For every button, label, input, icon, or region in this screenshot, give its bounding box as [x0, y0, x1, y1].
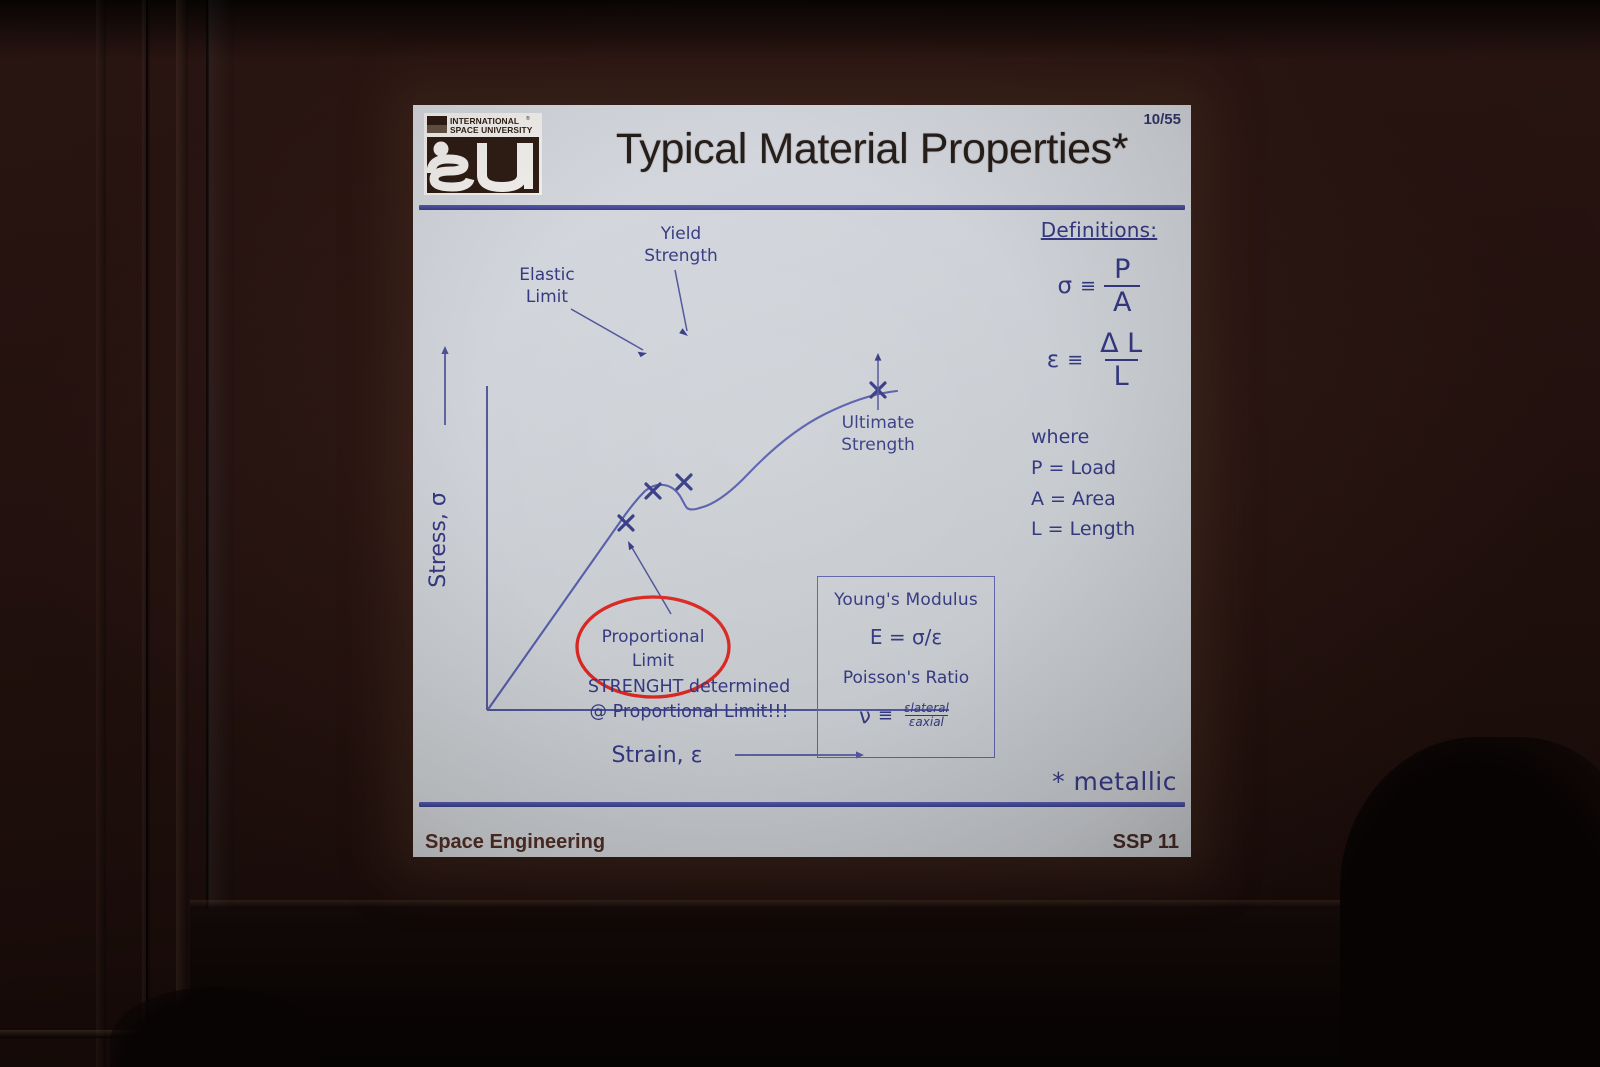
lecture-room-photo: INTERNATIONAL ® SPACE UNIVERSITY 10/55 T…: [0, 0, 1600, 1067]
strength-note-line-1: STRENGHT determined: [569, 675, 809, 700]
yield-strength-annotation: Yield Strength: [644, 224, 718, 336]
y-axis-label: Stress, σ: [426, 492, 451, 588]
wall-panel-seam: [146, 0, 148, 1067]
youngs-modulus-equation: E = σ/ε: [818, 625, 994, 649]
poisson-equiv-sign: ≡: [878, 705, 893, 726]
youngs-modulus-title: Young's Modulus: [818, 590, 994, 610]
svg-text:SPACE UNIVERSITY: SPACE UNIVERSITY: [450, 125, 533, 135]
marker-yield-strength: [677, 475, 691, 489]
wall-pilaster: [176, 0, 188, 1067]
poisson-numerator: εlateral: [900, 702, 953, 715]
strain-equiv-sign: ≡: [1067, 349, 1083, 371]
slide-header: INTERNATIONAL ® SPACE UNIVERSITY 10/55 T…: [413, 105, 1191, 203]
audience-silhouette: [1340, 737, 1600, 1067]
x-axis-label: Strain, ε: [611, 743, 702, 768]
svg-text:Elastic: Elastic: [519, 265, 574, 285]
strength-note-line-2: @ Proportional Limit!!!: [569, 700, 809, 725]
footer-divider: [419, 802, 1185, 807]
strain-symbol: ε: [1047, 347, 1059, 373]
poisson-symbol: ν: [859, 704, 871, 728]
strain-denominator: L: [1105, 359, 1138, 390]
stress-numerator: P: [1105, 256, 1139, 285]
stress-denominator: A: [1104, 285, 1140, 316]
elastic-limit-annotation: Elastic Limit: [519, 265, 647, 357]
svg-text:Yield: Yield: [660, 224, 701, 244]
svg-text:Limit: Limit: [526, 287, 568, 307]
stress-symbol: σ: [1058, 273, 1073, 299]
where-item-length: L = Length: [1031, 514, 1185, 545]
svg-text:Limit: Limit: [632, 651, 674, 671]
wall-panel-seam: [142, 0, 150, 1067]
strain-fraction: Δ L L: [1091, 330, 1151, 390]
strain-numerator: Δ L: [1091, 330, 1151, 359]
ceiling-shadow: [0, 0, 1600, 60]
where-item-area: A = Area: [1031, 484, 1185, 515]
poissons-ratio-title: Poisson's Ratio: [818, 668, 994, 688]
slide-body: Stress, σ: [413, 210, 1191, 802]
projected-slide: INTERNATIONAL ® SPACE UNIVERSITY 10/55 T…: [413, 105, 1191, 857]
footer-program-code: SSP 11: [1113, 831, 1179, 854]
footer-course-name: Space Engineering: [425, 831, 605, 854]
where-item-load: P = Load: [1031, 453, 1185, 484]
poisson-fraction: εlateral εaxial: [900, 702, 953, 730]
slide-footer: Space Engineering SSP 11: [413, 813, 1191, 857]
where-label: where: [1031, 422, 1185, 453]
definitions-panel: Definitions: σ ≡ P A ε ≡ Δ L L: [1013, 218, 1185, 545]
stress-fraction: P A: [1104, 256, 1140, 316]
wall-panel-seam: [96, 0, 106, 1067]
poissons-ratio-equation: ν ≡ εlateral εaxial: [818, 702, 994, 730]
svg-text:Ultimate: Ultimate: [842, 413, 915, 433]
strain-definition-equation: ε ≡ Δ L L: [1013, 330, 1185, 390]
ultimate-strength-annotation: Ultimate Strength: [841, 353, 915, 455]
where-block: where P = Load A = Area L = Length: [1013, 422, 1185, 545]
proportional-limit-annotation: Proportional Limit: [577, 541, 729, 697]
svg-text:Strength: Strength: [841, 435, 915, 455]
svg-text:Strength: Strength: [644, 246, 718, 266]
stress-definition-equation: σ ≡ P A: [1013, 256, 1185, 316]
definitions-title: Definitions:: [1013, 218, 1185, 242]
stress-equiv-sign: ≡: [1080, 275, 1096, 297]
isu-logo: INTERNATIONAL ® SPACE UNIVERSITY: [424, 113, 542, 195]
svg-text:®: ®: [526, 115, 530, 122]
svg-text:Proportional: Proportional: [602, 627, 705, 647]
y-axis-label-group: Stress, σ: [426, 346, 451, 588]
marker-proportional-limit: [619, 516, 633, 530]
page-title: Typical Material Properties*: [563, 125, 1181, 174]
youngs-modulus-box: Young's Modulus E = σ/ε Poisson's Ratio …: [817, 576, 995, 758]
poisson-denominator: εaxial: [905, 715, 948, 729]
strength-note: STRENGHT determined @ Proportional Limit…: [569, 675, 809, 725]
metallic-footnote: * metallic: [1052, 767, 1177, 796]
